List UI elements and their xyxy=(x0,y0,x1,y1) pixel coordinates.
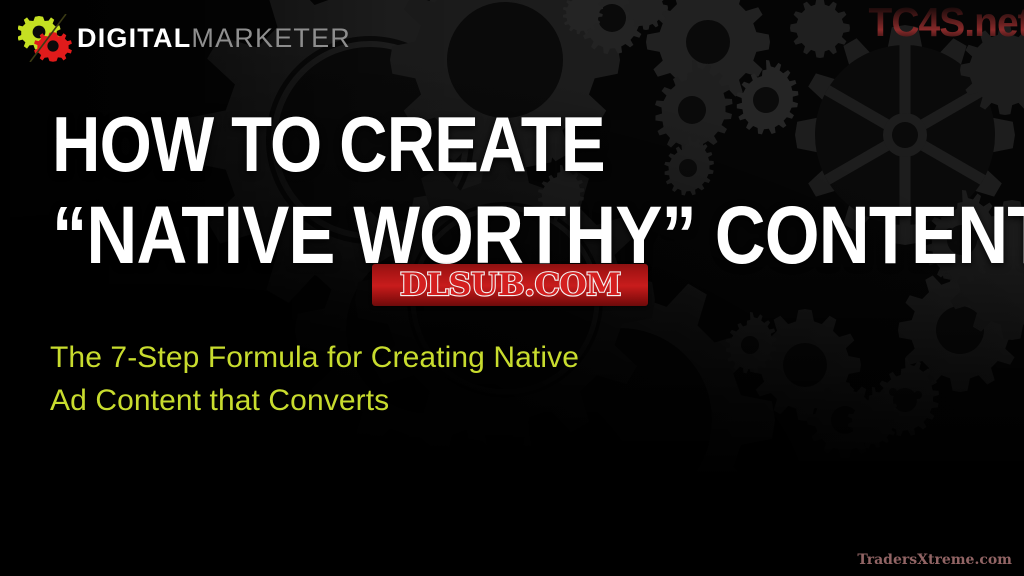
subtitle-line-1: The 7-Step Formula for Creating Native xyxy=(50,337,690,380)
brand-wordmark-light: MARKETER xyxy=(191,23,351,53)
watermark-dlsub-label: DLSUB.COM xyxy=(400,270,621,301)
slide-subtitle: The 7-Step Formula for Creating Native A… xyxy=(50,337,690,422)
brand-logo[interactable]: DIGITALMARKETER xyxy=(18,14,351,62)
presentation-slide: DIGITALMARKETER HOW TO CREATE “NATIVE WO… xyxy=(0,0,1024,576)
watermark-tradersxtreme: TradersXtreme.com xyxy=(857,552,1012,568)
watermark-tc4s-net: TC4S.net xyxy=(869,2,1024,43)
headline-line-1: HOW TO CREATE xyxy=(52,106,843,182)
subtitle-line-2: Ad Content that Converts xyxy=(50,380,690,423)
slide-headline: HOW TO CREATE “NATIVE WORTHY” CONTENT xyxy=(52,106,972,277)
digitalmarketer-gears-icon xyxy=(18,14,76,62)
watermark-dlsub-badge: DLSUB.COM xyxy=(372,264,648,306)
brand-wordmark: DIGITALMARKETER xyxy=(77,25,351,52)
brand-wordmark-bold: DIGITAL xyxy=(77,23,191,53)
